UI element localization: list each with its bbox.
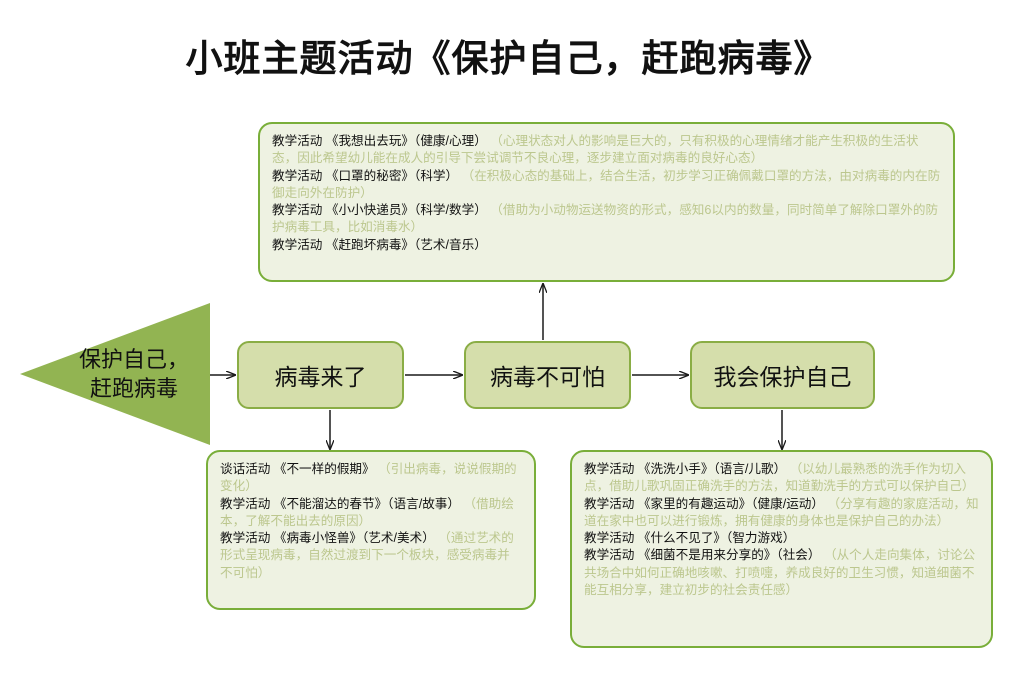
activity-heading: 教学活动 《赶跑坏病毒》（艺术/音乐） xyxy=(272,238,487,252)
text-box-bottom-left[interactable]: 谈话活动 《不一样的假期》 （引出病毒，说说假期的变化）教学活动 《不能溜达的春… xyxy=(206,450,536,610)
activity-heading: 教学活动 《洗洗小手》（语言/儿歌） xyxy=(584,462,786,476)
flow-box-protect-self-label: 我会保护自己 xyxy=(714,358,852,392)
text-box-top[interactable]: 教学活动 《我想出去玩》（健康/心理） （心理状态对人的影响是巨大的，只有积极的… xyxy=(258,122,955,282)
activity-heading: 教学活动 《细菌不是用来分享的》（社会） xyxy=(584,548,820,562)
flow-box-protect-self[interactable]: 我会保护自己 xyxy=(690,341,875,409)
flow-box-virus-came[interactable]: 病毒来了 xyxy=(237,341,404,409)
activity-heading: 教学活动 《什么不见了》（智力游戏） xyxy=(584,531,795,545)
activity-line: 教学活动 《洗洗小手》（语言/儿歌） （以幼儿最熟悉的洗手作为切入点，借助儿歌巩… xyxy=(584,461,979,496)
start-triangle[interactable]: 保护自己， 赶跑病毒 xyxy=(20,303,210,445)
activity-line: 教学活动 《什么不见了》（智力游戏） xyxy=(584,530,979,547)
activity-heading: 教学活动 《病毒小怪兽》（艺术/美术） xyxy=(220,531,435,545)
diagram-canvas: 小班主题活动《保护自己，赶跑病毒》 保护自己， 赶跑病毒 病毒来了 病毒不可怕 xyxy=(0,0,1017,687)
start-triangle-label: 保护自己， 赶跑病毒 xyxy=(58,303,210,445)
activity-line: 教学活动 《小小快递员》（科学/数学） （借助为小动物运送物资的形式，感知6以内… xyxy=(272,202,941,237)
activity-line: 教学活动 《我想出去玩》（健康/心理） （心理状态对人的影响是巨大的，只有积极的… xyxy=(272,133,941,168)
flow-box-not-scary[interactable]: 病毒不可怕 xyxy=(464,341,631,409)
flow-box-virus-came-label: 病毒来了 xyxy=(275,358,367,392)
page-title: 小班主题活动《保护自己，赶跑病毒》 xyxy=(0,28,1017,82)
activity-heading: 教学活动 《口罩的秘密》（科学） xyxy=(272,169,458,183)
start-triangle-line2: 赶跑病毒 xyxy=(90,374,178,403)
activity-line: 教学活动 《口罩的秘密》（科学） （在积极心态的基础上，结合生活，初步学习正确佩… xyxy=(272,168,941,203)
flow-box-not-scary-label: 病毒不可怕 xyxy=(490,358,605,392)
activity-line: 教学活动 《病毒小怪兽》（艺术/美术） （通过艺术的形式呈现病毒，自然过渡到下一… xyxy=(220,530,522,582)
activity-line: 谈话活动 《不一样的假期》 （引出病毒，说说假期的变化） xyxy=(220,461,522,496)
activity-heading: 教学活动 《不能溜达的春节》（语言/故事） xyxy=(220,497,460,511)
activity-heading: 教学活动 《小小快递员》（科学/数学） xyxy=(272,203,487,217)
activity-line: 教学活动 《赶跑坏病毒》（艺术/音乐） xyxy=(272,237,941,254)
activity-heading: 教学活动 《我想出去玩》（健康/心理） xyxy=(272,134,487,148)
activity-heading: 教学活动 《家里的有趣运动》（健康/运动） xyxy=(584,497,824,511)
text-box-bottom-right[interactable]: 教学活动 《洗洗小手》（语言/儿歌） （以幼儿最熟悉的洗手作为切入点，借助儿歌巩… xyxy=(570,450,993,648)
activity-line: 教学活动 《不能溜达的春节》（语言/故事） （借助绘本，了解不能出去的原因） xyxy=(220,496,522,531)
start-triangle-line1: 保护自己， xyxy=(79,345,189,374)
activity-heading: 谈话活动 《不一样的假期》 xyxy=(220,462,375,476)
activity-line: 教学活动 《家里的有趣运动》（健康/运动） （分享有趣的家庭活动，知道在家中也可… xyxy=(584,496,979,531)
activity-line: 教学活动 《细菌不是用来分享的》（社会） （从个人走向集体，讨论公共场合中如何正… xyxy=(584,547,979,599)
